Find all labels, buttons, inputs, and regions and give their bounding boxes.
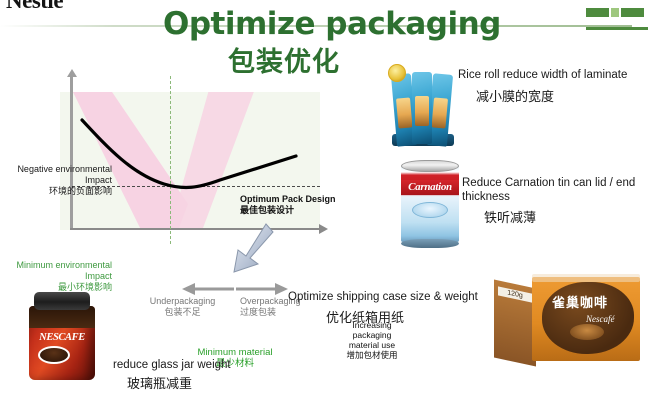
chart-region-underpackaging-en: Underpackaging bbox=[150, 296, 216, 306]
chart-ylabel-minimum-impact-cn: 最小环境影响 bbox=[58, 282, 112, 292]
item-carnation-caption: Reduce Carnation tin can lid / end thick… bbox=[462, 176, 642, 227]
page-title-chinese: 包装优化 bbox=[228, 40, 340, 79]
chart-region-overpackaging-cn: 过度包装 bbox=[240, 307, 276, 317]
quality-seal-icon bbox=[388, 64, 406, 82]
overpackaging-arrow-icon bbox=[236, 282, 288, 296]
chart-ylabel-negative-impact: Negative environmental Impact 环境的负面影响 bbox=[0, 164, 112, 197]
optimum-pointer-arrow-icon bbox=[230, 222, 274, 276]
rice-roll-packets-image bbox=[386, 62, 458, 152]
chart-region-underpackaging: Underpackaging 包装不足 bbox=[145, 296, 220, 318]
corner-decoration-blocks bbox=[586, 8, 644, 17]
item-shipping-case-caption: Optimize shipping case size & weight 优化纸… bbox=[288, 290, 503, 327]
item-glass-jar-en: reduce glass jar weight bbox=[113, 358, 283, 372]
can-oval-label bbox=[412, 202, 448, 218]
chart-region-underpackaging-cn: 包装不足 bbox=[164, 307, 200, 317]
page-title-english: Optimize packaging bbox=[163, 6, 501, 42]
can-bottom bbox=[401, 239, 459, 248]
corner-decoration-rule bbox=[586, 27, 648, 30]
chart-xlabel-increasing-material-cn: 增加包材使用 bbox=[346, 350, 397, 360]
carton-coffee-swirl bbox=[570, 324, 604, 340]
chart-ylabel-negative-impact-cn: 环境的负面影响 bbox=[49, 186, 112, 196]
item-carnation-en: Reduce Carnation tin can lid / end thick… bbox=[462, 176, 642, 204]
carton-side-panel: 120g bbox=[494, 280, 536, 367]
jar-cap bbox=[34, 292, 90, 310]
chart-annotation-cn: 最佳包装设计 bbox=[240, 205, 294, 215]
carton-brand-latin: Nescafé bbox=[586, 314, 615, 324]
can-brand-label: Carnation bbox=[401, 181, 459, 193]
underpackaging-arrow-icon bbox=[182, 282, 234, 296]
chart-ylabel-minimum-impact-en: Minimum environmental Impact bbox=[16, 260, 112, 281]
jar-coffee-cup-graphic bbox=[38, 346, 70, 364]
carton-brand-cn: 雀巢咖啡 bbox=[552, 292, 608, 311]
chart-annotation-en: Optimum Pack Design bbox=[240, 194, 336, 204]
item-rice-roll-en: Rice roll reduce width of laminate bbox=[458, 68, 644, 82]
chart-ylabel-negative-impact-en: Negative environmental Impact bbox=[17, 164, 112, 185]
nescafe-shipping-carton-image: 120g 雀巢咖啡 Nescafé bbox=[494, 272, 644, 376]
item-carnation-cn: 铁听减薄 bbox=[484, 209, 642, 227]
can-lid bbox=[401, 160, 459, 172]
rice-roll-packet bbox=[412, 72, 432, 144]
item-shipping-case-cn: 优化纸箱用纸 bbox=[326, 309, 503, 327]
corner-block-dark bbox=[586, 8, 609, 17]
item-shipping-case-en: Optimize shipping case size & weight bbox=[288, 290, 503, 304]
carnation-tin-can-image: Carnation bbox=[398, 160, 462, 248]
item-rice-roll-cn: 减小膜的宽度 bbox=[476, 88, 644, 106]
jar-brand-label: NESCAFE bbox=[29, 332, 95, 343]
packaging-optimization-chart: Negative environmental Impact 环境的负面影响 Mi… bbox=[60, 92, 320, 230]
item-glass-jar-caption: reduce glass jar weight 玻璃瓶减重 bbox=[113, 358, 283, 393]
chart-xlabel-minimum-material-en: Minimum material bbox=[198, 347, 273, 358]
chart-annotation-optimum-pack-design: Optimum Pack Design 最佳包装设计 bbox=[240, 194, 345, 216]
chart-ylabel-minimum-impact: Minimum environmental Impact 最小环境影响 bbox=[0, 260, 112, 293]
carton-code-label: 120g bbox=[498, 286, 532, 302]
item-rice-roll-caption: Rice roll reduce width of laminate 减小膜的宽… bbox=[458, 68, 644, 106]
corner-block-dark-2 bbox=[621, 8, 644, 17]
item-glass-jar-cn: 玻璃瓶减重 bbox=[127, 375, 283, 393]
nescafe-glass-jar-image: NESCAFE bbox=[22, 292, 106, 380]
carton-top-lip bbox=[532, 274, 640, 282]
slide-canvas: Nestle Optimize packaging 包装优化 Negative … bbox=[0, 0, 648, 411]
nestle-logo: Nestle bbox=[6, 0, 63, 9]
corner-block-light bbox=[611, 8, 619, 17]
